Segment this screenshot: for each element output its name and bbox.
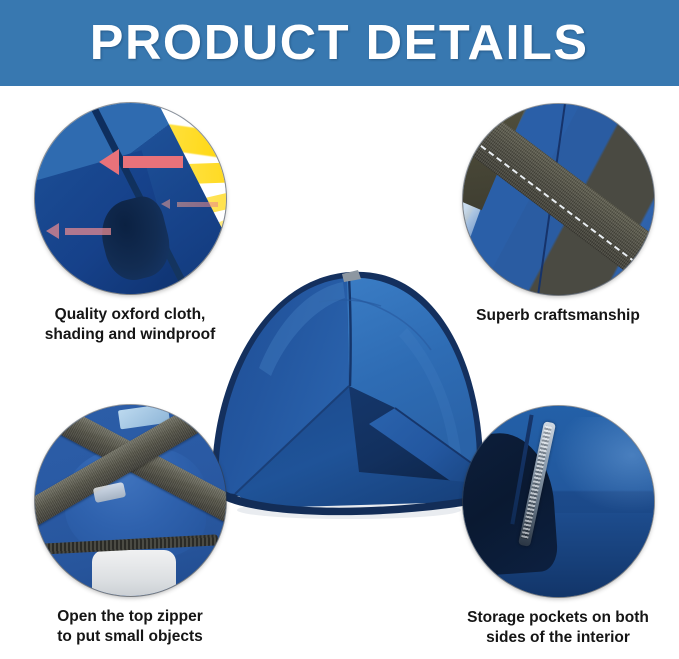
- feature-storage-pockets: Storage pockets on both sides of the int…: [449, 406, 667, 647]
- caption-line: shading and windproof: [21, 325, 239, 345]
- interior-storage-pocket-photo: [463, 406, 654, 597]
- caption-line: Storage pockets on both: [449, 608, 667, 628]
- feature-caption: Open the top zipper to put small objects: [21, 607, 239, 646]
- stored-object: [92, 550, 176, 596]
- caption-line: to put small objects: [21, 627, 239, 647]
- feature-top-zipper: Open the top zipper to put small objects: [21, 405, 239, 646]
- product-details-infographic: PRODUCT DETAILS: [0, 0, 679, 659]
- sun-blocking-arrow-icon: [99, 149, 183, 174]
- header-banner: PRODUCT DETAILS: [0, 0, 679, 86]
- feature-caption: Quality oxford cloth, shading and windpr…: [21, 305, 239, 344]
- sun-arrow-icon: [46, 223, 111, 239]
- feature-caption: Superb craftsmanship: [449, 306, 667, 326]
- top-zipper-photo: [35, 405, 226, 596]
- caption-line: Open the top zipper: [21, 607, 239, 627]
- product-image: [199, 258, 491, 520]
- sun-arrow-icon: [161, 199, 218, 209]
- fabric-highlight: [554, 417, 653, 513]
- webbing-stitching-photo: [463, 104, 654, 295]
- caption-line: sides of the interior: [449, 628, 667, 648]
- pop-up-beach-tent-illustration: [199, 258, 491, 520]
- oxford-cloth-sun-rays-photo: [35, 103, 226, 294]
- caption-line: Quality oxford cloth,: [21, 305, 239, 325]
- feature-oxford-cloth: Quality oxford cloth, shading and windpr…: [21, 103, 239, 344]
- caption-line: Superb craftsmanship: [449, 306, 667, 326]
- feature-craftsmanship: Superb craftsmanship: [449, 104, 667, 326]
- page-title: PRODUCT DETAILS: [90, 19, 589, 68]
- feature-caption: Storage pockets on both sides of the int…: [449, 608, 667, 647]
